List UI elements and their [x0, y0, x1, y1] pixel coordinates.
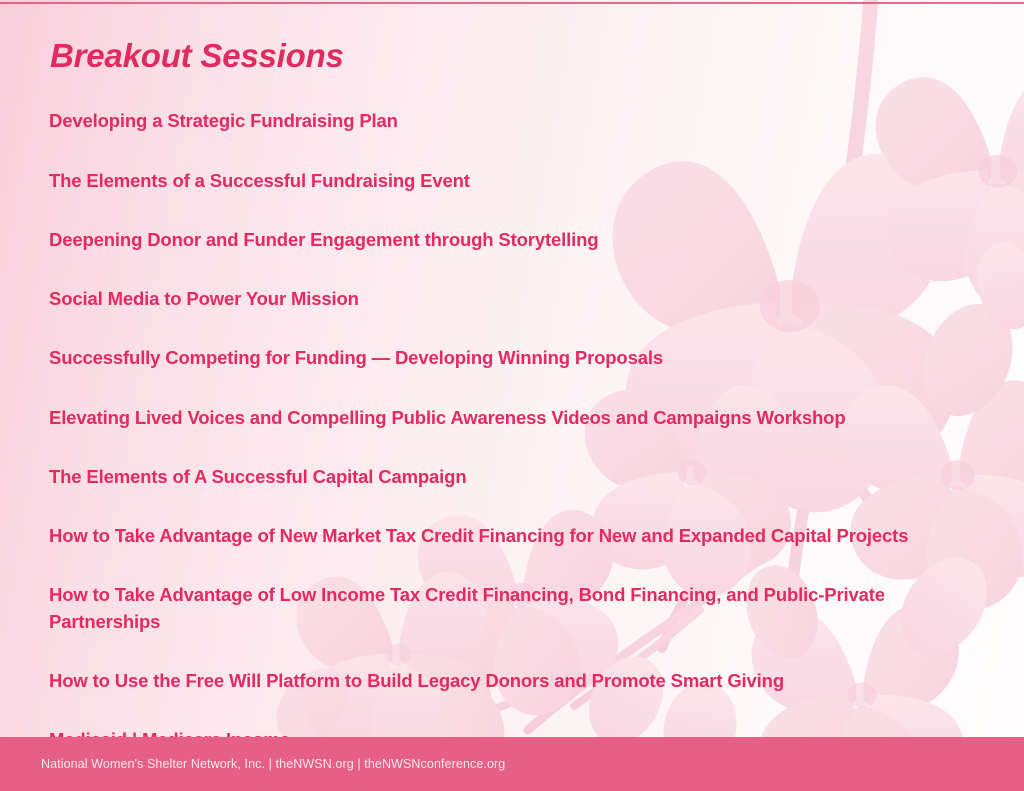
breakout-sessions-list: Developing a Strategic Fundraising Plan … [49, 108, 964, 753]
page-title: Breakout Sessions [50, 38, 964, 74]
list-item: How to Take Advantage of New Market Tax … [49, 523, 961, 549]
presentation-slide: Breakout Sessions Developing a Strategic… [0, 0, 1024, 791]
list-item: Social Media to Power Your Mission [49, 286, 961, 312]
footer-credit-text: National Women's Shelter Network, Inc. |… [41, 757, 505, 771]
list-item: How to Take Advantage of Low Income Tax … [49, 582, 961, 635]
list-item: Developing a Strategic Fundraising Plan [49, 108, 961, 134]
list-item: The Elements of A Successful Capital Cam… [49, 464, 961, 490]
list-item: The Elements of a Successful Fundraising… [49, 168, 961, 194]
list-item: Deepening Donor and Funder Engagement th… [49, 227, 961, 253]
footer-bar: National Women's Shelter Network, Inc. |… [0, 737, 1024, 791]
list-item: How to Use the Free Will Platform to Bui… [49, 668, 961, 694]
list-item: Successfully Competing for Funding — Dev… [49, 345, 961, 371]
top-accent-rule [0, 2, 1024, 4]
list-item: Elevating Lived Voices and Compelling Pu… [49, 405, 961, 431]
slide-content: Breakout Sessions Developing a Strategic… [0, 0, 1024, 791]
